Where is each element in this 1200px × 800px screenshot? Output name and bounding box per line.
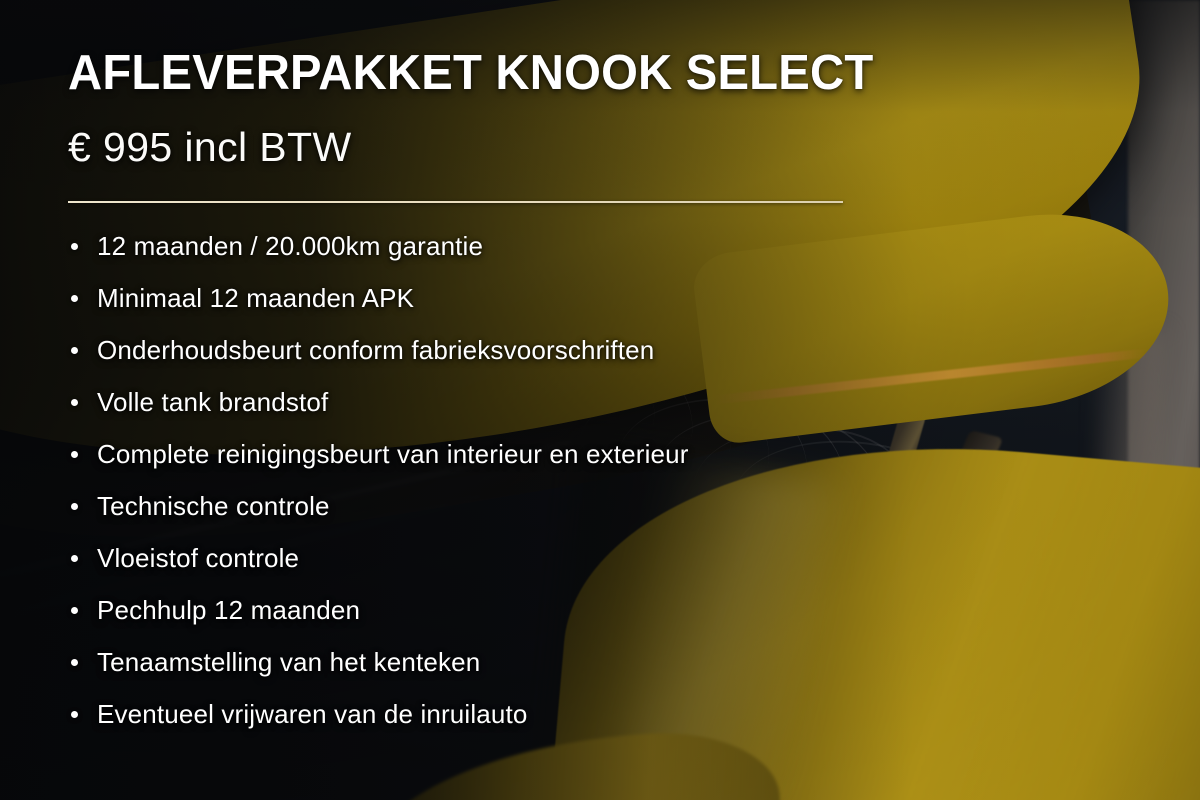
- list-item: Onderhoudsbeurt conform fabrieksvoorschr…: [68, 324, 689, 376]
- bullet-dot-icon: [71, 347, 78, 354]
- list-item-label: Technische controle: [97, 491, 330, 521]
- bullet-dot-icon: [71, 243, 78, 250]
- bullet-dot-icon: [71, 503, 78, 510]
- bullet-dot-icon: [71, 711, 78, 718]
- list-item: Complete reinigingsbeurt van interieur e…: [68, 428, 689, 480]
- list-item-label: Minimaal 12 maanden APK: [97, 283, 414, 313]
- list-item-label: Volle tank brandstof: [97, 387, 328, 417]
- bullet-dot-icon: [71, 659, 78, 666]
- bullet-dot-icon: [71, 295, 78, 302]
- bullet-dot-icon: [71, 399, 78, 406]
- background-right-pillar: [1128, 0, 1200, 800]
- price-subtitle: € 995 incl BTW: [68, 125, 352, 170]
- list-item-label: 12 maanden / 20.000km garantie: [97, 231, 483, 261]
- bullet-dot-icon: [71, 555, 78, 562]
- promo-slide: AFLEVERPAKKET KNOOK SELECT € 995 incl BT…: [0, 0, 1200, 800]
- list-item: 12 maanden / 20.000km garantie: [68, 220, 689, 272]
- title-divider: [68, 201, 843, 203]
- list-item: Volle tank brandstof: [68, 376, 689, 428]
- list-item: Pechhulp 12 maanden: [68, 584, 689, 636]
- list-item-label: Pechhulp 12 maanden: [97, 595, 360, 625]
- page-title: AFLEVERPAKKET KNOOK SELECT: [68, 48, 873, 99]
- list-item: Vloeistof controle: [68, 532, 689, 584]
- feature-list: 12 maanden / 20.000km garantieMinimaal 1…: [68, 220, 689, 740]
- list-item-label: Tenaamstelling van het kenteken: [97, 647, 480, 677]
- list-item-label: Complete reinigingsbeurt van interieur e…: [97, 439, 689, 469]
- list-item: Minimaal 12 maanden APK: [68, 272, 689, 324]
- list-item-label: Vloeistof controle: [97, 543, 299, 573]
- bullet-dot-icon: [71, 451, 78, 458]
- list-item-label: Onderhoudsbeurt conform fabrieksvoorschr…: [97, 335, 654, 365]
- list-item: Technische controle: [68, 480, 689, 532]
- list-item: Eventueel vrijwaren van de inruilauto: [68, 688, 689, 740]
- list-item-label: Eventueel vrijwaren van de inruilauto: [97, 699, 527, 729]
- bullet-dot-icon: [71, 607, 78, 614]
- list-item: Tenaamstelling van het kenteken: [68, 636, 689, 688]
- slide-content: AFLEVERPAKKET KNOOK SELECT € 995 incl BT…: [68, 0, 1128, 800]
